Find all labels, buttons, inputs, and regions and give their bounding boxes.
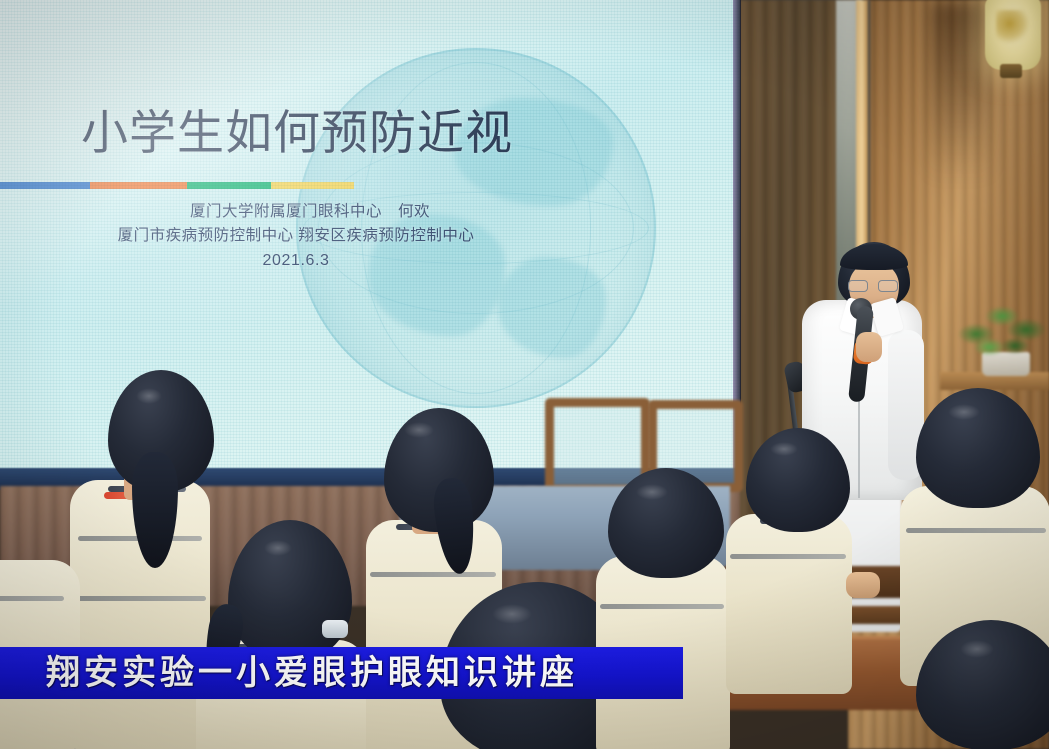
student-hand xyxy=(846,572,880,598)
uniform-stripe xyxy=(0,596,64,601)
uniform-stripe xyxy=(730,554,846,559)
screenshot-frame: 小学生如何预防近视 厦门大学附属厦门眼科中心 何欢 厦门市疾病预防控制中心 翔安… xyxy=(0,0,1049,749)
globe-landmass xyxy=(498,257,606,358)
slide-subtitle: 厦门大学附属厦门眼科中心 何欢 厦门市疾病预防控制中心 翔安区疾病预防控制中心 xyxy=(0,200,596,248)
slide-color-rule xyxy=(0,182,354,189)
presenter-hand xyxy=(856,332,882,362)
glasses-left-lens xyxy=(848,280,868,292)
glasses-right-lens xyxy=(878,280,898,292)
uniform-stripe xyxy=(370,572,496,577)
potted-plant-icon xyxy=(958,300,1049,362)
hair-highlight xyxy=(404,422,434,438)
slide-subtitle-line2: 厦门市疾病预防控制中心 翔安区疾病预防控制中心 xyxy=(0,224,596,248)
rule-segment-green xyxy=(187,182,270,189)
uniform-stripe xyxy=(600,604,724,609)
slide-date: 2021.6.3 xyxy=(0,252,596,270)
slide-title: 小学生如何预防近视 xyxy=(81,106,501,160)
uniform-stripe xyxy=(906,528,1046,533)
hair-highlight xyxy=(136,388,162,404)
rule-segment-orange xyxy=(90,182,188,189)
uniform-stripe xyxy=(74,596,206,601)
lamp-decoration xyxy=(996,10,1030,44)
caption-banner: 翔安实验一小爱眼护眼知识讲座 xyxy=(0,647,683,699)
caption-text: 翔安实验一小爱眼护眼知识讲座 xyxy=(46,656,578,690)
rule-segment-blue xyxy=(0,182,90,189)
lamp-shadow xyxy=(930,0,990,180)
hair-highlight xyxy=(960,640,994,658)
lamp-base xyxy=(1000,64,1022,78)
student-uniform xyxy=(726,514,852,694)
slide-subtitle-line1: 厦门大学附属厦门眼科中心 何欢 xyxy=(0,200,596,224)
hair-clip-icon xyxy=(322,620,348,638)
hair-highlight xyxy=(264,540,292,556)
hair-highlight xyxy=(636,484,668,500)
rule-segment-yellow xyxy=(271,182,354,189)
hair-highlight xyxy=(492,604,532,624)
presenter-glasses-icon xyxy=(848,280,900,292)
hair-highlight xyxy=(948,404,980,420)
hair-highlight xyxy=(770,442,798,456)
